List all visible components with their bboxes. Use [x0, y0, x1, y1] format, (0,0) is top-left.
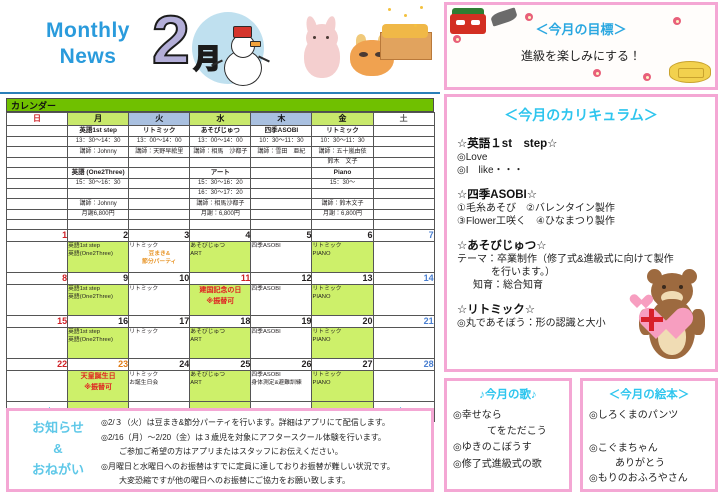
class-name — [7, 168, 68, 179]
class-time-row-2: 15：30～16：30 15：30～16：20 15：30～ — [7, 179, 435, 189]
class-time-row-1: 13：30～14：30 13：00～14：00 13：00～14：00 10：3… — [7, 137, 435, 147]
oni-mask-icon — [450, 8, 486, 34]
notice-box: お知らせ & おねがい ◎2/３（火）は豆まき&節分パーティを行います。詳細はア… — [6, 408, 434, 492]
calendar-day-number[interactable]: 24 — [129, 359, 190, 371]
notice-label-line2: & — [15, 438, 101, 459]
left-column: Monthly News 2 月 ✳ ✳ — [0, 0, 440, 498]
calendar-event-row: 英語1st step英語(One2Three)リトミックあそびじゅつART四季A… — [7, 328, 435, 359]
calendar-day-cell[interactable]: リトミックPIANO — [312, 328, 373, 359]
song-item: てをただこう — [453, 424, 569, 439]
calendar-event: 英語(One2Three) — [68, 250, 128, 258]
calendar-event: リトミック — [129, 328, 189, 336]
curriculum-line: テーマ：卒業制作（修了式&進級式に向けて製作 — [457, 253, 715, 266]
calendar-day-number[interactable]: 3 — [129, 230, 190, 242]
heart-icon — [637, 309, 675, 343]
class-name — [251, 168, 312, 179]
class-name: 英語 (One2Three) — [68, 168, 129, 179]
curriculum-line: ◎I like・・・ — [457, 164, 715, 177]
plum-blossom-icon — [525, 13, 533, 21]
calendar-title: カレンダー — [6, 98, 434, 112]
calendar-event: 四季ASOBI — [251, 328, 311, 336]
class-time2-row-2: 16：30～17：20 — [7, 189, 435, 199]
dow-sun: 日 — [7, 113, 68, 126]
class-name — [373, 168, 434, 179]
calendar-day-number[interactable]: 27 — [312, 359, 373, 371]
calendar-day-cell[interactable]: 英語1st step英語(One2Three) — [68, 242, 129, 273]
calendar-event: あそびじゅつ — [190, 242, 250, 250]
calendar-day-cell[interactable]: リトミック豆まき&節分パーティ — [129, 242, 190, 273]
snowman-icon — [220, 26, 266, 86]
monthly-books-box: ＜今月の絵本＞ ◎しろくまのパンツ ◎こぐまちゃんありがとう◎もりのおふろやさん — [580, 378, 718, 492]
calendar-day-number[interactable]: 10 — [129, 273, 190, 285]
calendar-spacer-cell — [129, 220, 190, 230]
calendar-day-cell[interactable]: あそびじゅつART — [190, 328, 251, 359]
class-teacher-2 — [373, 158, 434, 168]
calendar-day-number[interactable]: 23 — [68, 359, 129, 371]
calendar-day-cell[interactable]: 建国記念の日※振替可 — [190, 285, 251, 316]
class-name-row-1: 英語1st step リトミック あそびじゅつ 四季ASOBI リトミック — [7, 126, 435, 137]
calendar-day-cell[interactable] — [373, 371, 434, 402]
calendar-day-number[interactable]: 13 — [312, 273, 373, 285]
bear-with-heart-icon — [635, 269, 709, 365]
class-teacher-2 — [190, 158, 251, 168]
monthly-goal-text: 進級を楽しみにする！ — [447, 38, 715, 64]
calendar-event: PIANO — [312, 336, 372, 344]
curriculum-line: ③Flower工咲く ④ひなまつり製作 — [457, 215, 715, 228]
koban-coin-icon — [669, 61, 711, 83]
newsletter-page: Monthly News 2 月 ✳ ✳ — [0, 0, 720, 498]
calendar-event: リトミック — [129, 242, 189, 250]
class-time: 13：00～14：00 — [190, 137, 251, 147]
class-name: Piano — [312, 168, 373, 179]
class-teacher: 講師：鈴木文子 — [312, 199, 373, 210]
dow-sat: 土 — [373, 113, 434, 126]
class-time-2 — [129, 189, 190, 199]
calendar-event: ART — [190, 250, 250, 258]
class-teacher: 講師：Johnny — [68, 199, 129, 210]
calendar-day-cell[interactable]: あそびじゅつART — [190, 371, 251, 402]
class-fee — [129, 210, 190, 220]
calendar-day-number[interactable]: 22 — [7, 359, 68, 371]
dow-fri: 金 — [312, 113, 373, 126]
class-teacher-2 — [251, 158, 312, 168]
notice-line: ご参加ご希望の方はアプリまたはスタッフにお伝えください。 — [101, 445, 425, 460]
class-name-row-2: 英語 (One2Three) アート Piano — [7, 168, 435, 179]
notice-line: ◎月曜日と水曜日へのお振替はすでに定員に達しておりお振替が難しい状況です。 — [101, 460, 425, 475]
class-time — [7, 137, 68, 147]
calendar-day-number[interactable]: 19 — [251, 316, 312, 328]
class-teacher: 講師：相馬 沙都子 — [190, 147, 251, 158]
calendar-day-cell[interactable] — [373, 242, 434, 273]
curriculum-line: ①毛糸あそび ②バレンタイン製作 — [457, 202, 715, 215]
class-time: 10：30～11：30 — [251, 137, 312, 147]
calendar-day-cell[interactable] — [7, 285, 68, 316]
calendar-event: リトミック — [312, 371, 372, 379]
calendar-day-cell[interactable]: リトミックPIANO — [312, 285, 373, 316]
calendar-day-number[interactable]: 28 — [373, 359, 434, 371]
calendar-event: PIANO — [312, 293, 372, 301]
class-time-2 — [373, 189, 434, 199]
calendar-event: あそびじゅつ — [190, 328, 250, 336]
notice-line: 大変恐縮ですが他の曜日へのお振替にご協力をお願い致します。 — [101, 474, 425, 489]
class-name: 四季ASOBI — [251, 126, 312, 137]
calendar-day-cell[interactable] — [7, 371, 68, 402]
calendar-event: リトミック — [129, 371, 189, 379]
notice-body: ◎2/３（火）は豆まき&節分パーティを行います。詳細はアプリにて配信します。◎2… — [101, 416, 425, 489]
calendar-day-number[interactable]: 21 — [373, 316, 434, 328]
calendar-event: リトミック — [312, 285, 372, 293]
class-name: 英語1st step — [68, 126, 129, 137]
class-time-2 — [312, 189, 373, 199]
calendar-event: 四季ASOBI — [251, 242, 311, 250]
class-fee — [251, 210, 312, 220]
class-teacher-2 — [68, 158, 129, 168]
curriculum-title: ＜今月のカリキュラム＞ — [447, 97, 715, 125]
monthly-songs-title: ♪今月の歌♪ — [447, 381, 569, 402]
calendar-day-number[interactable]: 17 — [129, 316, 190, 328]
calendar-holiday-label: 建国記念の日 — [190, 285, 250, 296]
calendar-day-cell[interactable]: 四季ASOBI — [251, 328, 312, 359]
book-item: ◎こぐまちゃん — [589, 441, 715, 456]
calendar-day-cell[interactable] — [373, 328, 434, 359]
calendar-event: あそびじゅつ — [190, 371, 250, 379]
masthead-title-line1: Monthly — [28, 18, 148, 44]
calendar-day-number[interactable]: 1 — [7, 230, 68, 242]
calendar-spacer-cell — [7, 220, 68, 230]
calendar-spacer-row — [7, 220, 435, 230]
class-fee — [7, 210, 68, 220]
calendar-section: カレンダー 日 月 火 水 木 金 土 — [6, 98, 434, 422]
calendar-event: リトミック — [129, 285, 189, 293]
calendar-week-rows: 1234567英語1st step英語(One2Three)リトミック豆まき&節… — [7, 220, 435, 422]
class-time: 13：00～14：00 — [129, 137, 190, 147]
class-teacher — [251, 199, 312, 210]
class-teacher — [7, 199, 68, 210]
book-item: ありがとう — [589, 456, 715, 471]
calendar-event: 四季ASOBI — [251, 285, 311, 293]
calendar-day-number[interactable]: 26 — [251, 359, 312, 371]
notice-label-line3: おねがい — [15, 459, 101, 480]
dow-thu: 木 — [251, 113, 312, 126]
calendar-day-cell[interactable]: 英語1st step英語(One2Three) — [68, 285, 129, 316]
calendar-daynum-row: 891011121314 — [7, 273, 435, 285]
calendar-day-cell[interactable]: リトミックお誕生日会 — [129, 371, 190, 402]
song-item: ◎ゆきのこぼうす — [453, 439, 569, 456]
calendar-holiday-label: 天皇誕生日 — [68, 371, 128, 382]
notice-label-line1: お知らせ — [15, 417, 101, 438]
calendar-daynum-row: 1234567 — [7, 230, 435, 242]
class-teacher-row-1: 講師：Johnny 講師：天野早絵里 講師：相馬 沙都子 講師：雪田 亜紀 講師… — [7, 147, 435, 158]
class-name — [373, 126, 434, 137]
class-fee: 月謝：6,800円 — [312, 210, 373, 220]
calendar-event: 四季ASOBI — [251, 371, 311, 379]
notice-line: ◎2/３（火）は豆まき&節分パーティを行います。詳細はアプリにて配信します。 — [101, 416, 425, 431]
plum-blossom-icon — [673, 17, 681, 25]
calendar-event: 英語(One2Three) — [68, 336, 128, 344]
calendar-event: リトミック — [312, 328, 372, 336]
curriculum-box: ＜今月のカリキュラム＞ ☆英語１st step☆◎Love◎I like・・・☆… — [444, 94, 718, 372]
class-teacher: 講師：天野早絵里 — [129, 147, 190, 158]
book-item: ◎しろくまのパンツ — [589, 407, 715, 424]
class-teacher: 講師：五十嵐由依 — [312, 147, 373, 158]
calendar-day-cell[interactable] — [7, 242, 68, 273]
monthly-songs-box: ♪今月の歌♪ ◎幸せならてをただこう◎ゆきのこぼうす◎修了式進級式の歌 — [444, 378, 572, 492]
calendar-event-row: 天皇誕生日※振替可リトミックお誕生日会あそびじゅつART四季ASOBI身体測定&… — [7, 371, 435, 402]
curriculum-section-heading: ☆あそびじゅつ☆ — [457, 237, 715, 253]
calendar-event: 英語(One2Three) — [68, 293, 128, 301]
calendar-event: ART — [190, 336, 250, 344]
calendar-event: お誕生日会 — [129, 379, 189, 387]
calendar-event: 英語1st step — [68, 328, 128, 336]
calendar-dow-row: 日 月 火 水 木 金 土 — [7, 113, 435, 126]
monthly-goal-box: ＜今月の目標＞ 進級を楽しみにする！ — [444, 2, 718, 90]
calendar-day-cell[interactable]: リトミックPIANO — [312, 371, 373, 402]
dow-mon: 月 — [68, 113, 129, 126]
header-divider — [0, 92, 440, 94]
dow-tue: 火 — [129, 113, 190, 126]
class-time — [129, 179, 190, 189]
class-fee — [373, 210, 434, 220]
page-title: Monthly News — [28, 18, 148, 71]
calendar-special-event: 節分パーティ — [129, 258, 189, 266]
song-item: ◎幸せなら — [453, 407, 569, 424]
calendar-day-number[interactable]: 11 — [190, 273, 251, 285]
class-teacher: 講師：雪田 亜紀 — [251, 147, 312, 158]
dow-wed: 水 — [190, 113, 251, 126]
song-item: ◎修了式進級式の歌 — [453, 456, 569, 473]
class-fee: 月謝：6,800円 — [190, 210, 251, 220]
calendar-day-number[interactable]: 5 — [251, 230, 312, 242]
calendar-day-cell[interactable]: 天皇誕生日※振替可 — [68, 371, 129, 402]
class-teacher2-row-1: 鈴木 文子 — [7, 158, 435, 168]
class-teacher: 講師：相馬沙都子 — [190, 199, 251, 210]
calendar-special-event: 豆まき& — [129, 250, 189, 258]
calendar-day-cell[interactable] — [373, 285, 434, 316]
plum-blossom-icon — [593, 69, 601, 77]
class-teacher — [129, 199, 190, 210]
masthead: Monthly News 2 月 ✳ ✳ — [0, 0, 440, 96]
curriculum-line: ◎Love — [457, 151, 715, 164]
calendar-spacer-cell — [373, 220, 434, 230]
calendar-event: PIANO — [312, 250, 372, 258]
class-time: 13：30～14：30 — [68, 137, 129, 147]
class-teacher-2 — [129, 158, 190, 168]
class-teacher-2 — [7, 158, 68, 168]
calendar-holiday-label: ※振替可 — [68, 382, 128, 393]
calendar-spacer-cell — [68, 220, 129, 230]
class-fee: 月謝6,800円 — [68, 210, 129, 220]
calendar-daynum-row: 15161718192021 — [7, 316, 435, 328]
setsubun-illustration — [292, 6, 434, 90]
notice-label: お知らせ & おねがい — [15, 417, 101, 480]
book-item — [589, 424, 715, 441]
calendar-day-number[interactable]: 25 — [190, 359, 251, 371]
calendar-event: PIANO — [312, 379, 372, 387]
class-name — [7, 126, 68, 137]
calendar-day-cell[interactable]: リトミック — [129, 285, 190, 316]
calendar-day-number[interactable]: 20 — [312, 316, 373, 328]
bean-box-icon — [380, 20, 430, 60]
calendar-spacer-cell — [312, 220, 373, 230]
class-fee-row: 月謝6,800円 月謝：6,800円 月謝：6,800円 — [7, 210, 435, 220]
ribbon-icon — [649, 309, 654, 331]
calendar-table: 日 月 火 水 木 金 土 英語1st step リトミック あそびじゅつ 四季… — [6, 112, 435, 422]
calendar-event-row: 英語1st step英語(One2Three)リトミック豆まき&節分パーティあそ… — [7, 242, 435, 273]
class-time — [373, 137, 434, 147]
class-time-2 — [251, 189, 312, 199]
class-name: リトミック — [129, 126, 190, 137]
calendar-day-cell[interactable]: 四季ASOBI身体測定&避難訓練 — [251, 371, 312, 402]
plum-blossom-icon — [453, 35, 461, 43]
calendar-event: ART — [190, 379, 250, 387]
curriculum-section-heading: ☆四季ASOBI☆ — [457, 186, 715, 202]
class-time-2: 16：30～17：20 — [190, 189, 251, 199]
calendar-day-number[interactable]: 7 — [373, 230, 434, 242]
class-time: 15：30～ — [312, 179, 373, 189]
calendar-day-number[interactable]: 4 — [190, 230, 251, 242]
small-heart-icon — [629, 295, 645, 310]
calendar-day-cell[interactable]: あそびじゅつART — [190, 242, 251, 273]
calendar-event: 英語1st step — [68, 285, 128, 293]
calendar-day-number[interactable]: 9 — [68, 273, 129, 285]
book-item: ◎もりのおふろやさん — [589, 471, 715, 486]
calendar-spacer-cell — [190, 220, 251, 230]
curriculum-section-heading: ☆英語１st step☆ — [457, 135, 715, 151]
calendar-day-cell[interactable]: リトミックPIANO — [312, 242, 373, 273]
class-time — [251, 179, 312, 189]
class-time: 15：30～16：20 — [190, 179, 251, 189]
class-teacher-row-2: 講師：Johnny 講師：相馬沙都子 講師：鈴木文子 — [7, 199, 435, 210]
calendar-day-cell[interactable]: 英語1st step英語(One2Three) — [68, 328, 129, 359]
snowflake-icon: ✳ — [268, 48, 276, 61]
class-teacher: 講師：Johnny — [68, 147, 129, 158]
class-name: アート — [190, 168, 251, 179]
right-column: ＜今月の目標＞ 進級を楽しみにする！ ＜今月のカリキュラム＞ ☆英語１st st… — [444, 0, 718, 498]
monthly-books-list: ◎しろくまのパンツ ◎こぐまちゃんありがとう◎もりのおふろやさん — [583, 402, 715, 486]
class-time-2 — [68, 189, 129, 199]
calendar-daynum-row: 22232425262728 — [7, 359, 435, 371]
calendar-event: 英語1st step — [68, 242, 128, 250]
notice-line: ◎2/16（月）～2/20（金）は３歳児を対象にアフタースクール体験を行います。 — [101, 431, 425, 446]
class-teacher — [7, 147, 68, 158]
rabbit-icon — [298, 16, 346, 78]
class-time: 15：30～16：30 — [68, 179, 129, 189]
month-illustration: 2 月 ✳ ✳ — [150, 4, 285, 92]
class-time — [373, 179, 434, 189]
calendar-day-cell[interactable] — [7, 328, 68, 359]
calendar-day-number[interactable]: 2 — [68, 230, 129, 242]
monthly-books-title: ＜今月の絵本＞ — [583, 381, 715, 402]
class-name — [129, 168, 190, 179]
class-teacher — [373, 147, 434, 158]
calendar-event: リトミック — [312, 242, 372, 250]
calendar-day-number[interactable]: 6 — [312, 230, 373, 242]
masthead-title-line2: News — [28, 44, 148, 70]
class-time-2 — [7, 189, 68, 199]
month-number: 2 — [152, 6, 190, 74]
month-kanji: 月 — [194, 46, 221, 73]
calendar-day-number[interactable]: 14 — [373, 273, 434, 285]
calendar-event-row: 英語1st step英語(One2Three)リトミック建国記念の日※振替可四季… — [7, 285, 435, 316]
class-teacher-2: 鈴木 文子 — [312, 158, 373, 168]
calendar-day-cell[interactable]: リトミック — [129, 328, 190, 359]
calendar-day-cell[interactable]: 四季ASOBI — [251, 242, 312, 273]
calendar-day-number[interactable]: 15 — [7, 316, 68, 328]
calendar-day-cell[interactable]: 四季ASOBI — [251, 285, 312, 316]
snowflake-icon: ✳ — [262, 22, 273, 35]
calendar-spacer-cell — [251, 220, 312, 230]
class-teacher — [373, 199, 434, 210]
class-name: リトミック — [312, 126, 373, 137]
calendar-event: 身体測定&避難訓練 — [251, 379, 311, 387]
calendar-day-number[interactable]: 8 — [7, 273, 68, 285]
calendar-day-number[interactable]: 18 — [190, 316, 251, 328]
calendar-holiday-label: ※振替可 — [190, 296, 250, 307]
class-time — [7, 179, 68, 189]
class-time: 10：30～11：30 — [312, 137, 373, 147]
monthly-songs-list: ◎幸せならてをただこう◎ゆきのこぼうす◎修了式進級式の歌 — [447, 402, 569, 473]
plum-blossom-icon — [643, 73, 651, 81]
calendar-day-number[interactable]: 16 — [68, 316, 129, 328]
calendar-day-number[interactable]: 12 — [251, 273, 312, 285]
class-name: あそびじゅつ — [190, 126, 251, 137]
